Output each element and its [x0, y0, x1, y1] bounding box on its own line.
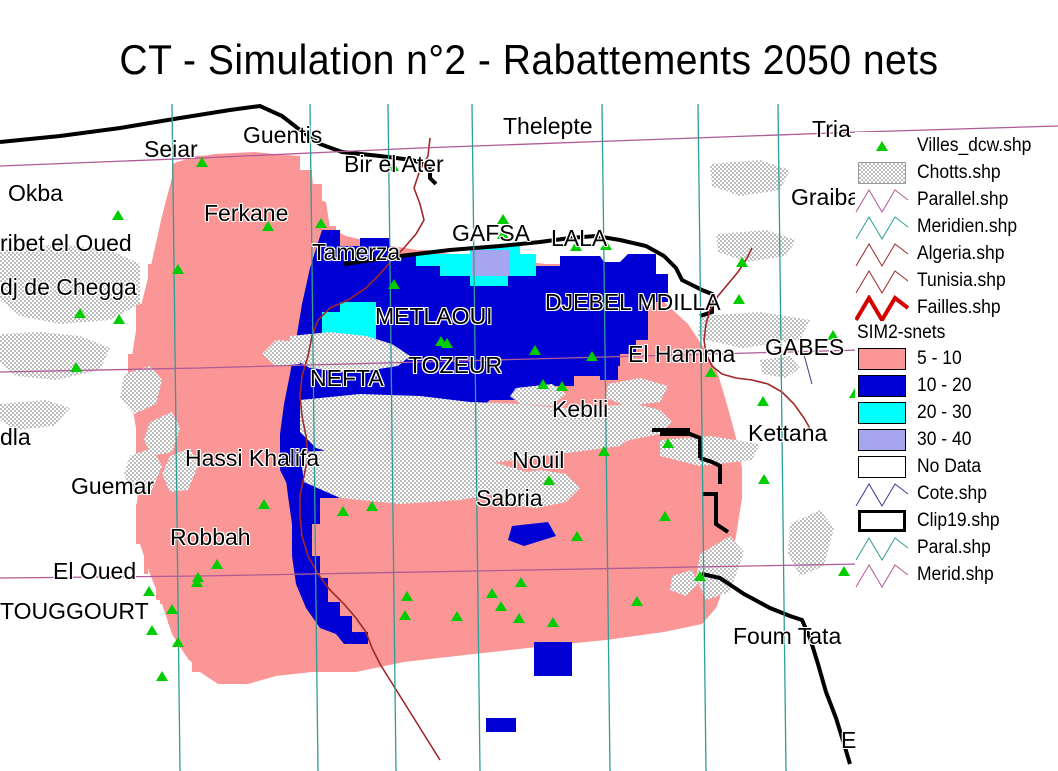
- map-label-guentis: Guentis: [243, 124, 322, 147]
- legend-label: Chotts.shp: [917, 162, 1001, 184]
- city-triangle-icon: [529, 345, 541, 355]
- legend-label: Merid.shp: [917, 564, 994, 586]
- map-label-ferkane: Ferkane: [204, 202, 288, 225]
- page-title: CT - Simulation n°2 - Rabattements 2050 …: [37, 36, 1021, 92]
- legend-classes: 5 - 1010 - 2020 - 3030 - 40No Data: [855, 345, 1058, 481]
- city-triangle-icon: [757, 396, 769, 406]
- map-label-guemar: Guemar: [71, 475, 154, 498]
- line-sample-icon: [855, 241, 909, 267]
- legend-label: 10 - 20: [917, 375, 971, 397]
- color-swatch-icon: [855, 373, 909, 399]
- legend-row-clip19-shp[interactable]: Clip19.shp: [855, 507, 1058, 535]
- legend-label: 30 - 40: [917, 429, 971, 451]
- city-triangle-icon: [156, 671, 168, 681]
- city-triangle-icon: [736, 257, 748, 267]
- legend-label: No Data: [917, 456, 981, 478]
- line-sample-icon: [855, 187, 909, 213]
- city-triangle-icon: [172, 264, 184, 274]
- line-sample-icon: [855, 295, 909, 321]
- legend-entries: Villes_dcw.shpChotts.shpParallel.shpMeri…: [855, 132, 1058, 322]
- city-triangle-icon: [694, 571, 706, 581]
- city-triangle-icon: [435, 336, 447, 346]
- map-label-e: E: [841, 729, 856, 752]
- legend-row-chotts-shp[interactable]: Chotts.shp: [855, 159, 1058, 187]
- map-label-ribet-el-oued: ribet el Oued: [0, 232, 132, 255]
- line-sample-icon: [855, 562, 909, 588]
- line-sample-icon: [855, 187, 909, 213]
- map-label-djebel-mdilla: DJEBEL MDILLA: [545, 291, 721, 314]
- map-label-el-hamma: El Hamma: [628, 343, 735, 366]
- line-sample-icon: [855, 214, 909, 240]
- legend-row-tunisia-shp[interactable]: Tunisia.shp: [855, 267, 1058, 295]
- map-label-robbah: Robbah: [170, 526, 251, 549]
- line-sample-icon: [855, 241, 909, 267]
- legend-label: Tunisia.shp: [917, 270, 1006, 292]
- city-triangle-icon: [659, 511, 671, 521]
- map-label-bir-el-ater: Bir el Ater: [344, 153, 444, 176]
- legend-label: Paral.shp: [917, 537, 991, 559]
- legend-label: 20 - 30: [917, 402, 971, 424]
- map-label-tamerza: Tamerza: [312, 241, 400, 264]
- map-label-metlaoui: METLAOUI: [375, 305, 493, 328]
- legend-label: Failles.shp: [917, 297, 1001, 319]
- legend-row-parallel-shp[interactable]: Parallel.shp: [855, 186, 1058, 214]
- city-triangle-icon: [211, 559, 223, 569]
- legend-row-merid-shp[interactable]: Merid.shp: [855, 561, 1058, 589]
- city-triangle-icon: [315, 218, 327, 228]
- city-triangle-icon: [70, 362, 82, 372]
- legend-row-failles-shp[interactable]: Failles.shp: [855, 294, 1058, 322]
- legend-row-cote-shp[interactable]: Cote.shp: [855, 480, 1058, 508]
- legend-label: Cote.shp: [917, 483, 987, 505]
- city-triangle-icon: [547, 617, 559, 627]
- city-triangle-icon: [758, 474, 770, 484]
- class-swatch-icon: [858, 429, 906, 451]
- green-triangle-icon: [876, 141, 888, 151]
- class-swatch-icon: [858, 402, 906, 424]
- map-label-kettana: Kettana: [748, 422, 827, 445]
- city-triangle-icon: [586, 351, 598, 361]
- map-label-el-oued: El Oued: [53, 560, 136, 583]
- city-triangle-icon: [556, 381, 568, 391]
- line-sample-icon: [855, 562, 909, 588]
- city-triangle-icon: [543, 475, 555, 485]
- map-label-foum-tata: Foum Tata: [733, 625, 841, 648]
- legend-label: Villes_dcw.shp: [917, 135, 1031, 157]
- clip-box-icon: [858, 510, 906, 532]
- map-label-gafsa: GAFSA: [452, 222, 530, 245]
- legend-row-algeria-shp[interactable]: Algeria.shp: [855, 240, 1058, 268]
- city-triangle-icon: [112, 210, 124, 220]
- map-label-dj-de-chegga: dj de Chegga: [0, 276, 137, 299]
- line-sample-icon: [855, 481, 909, 507]
- city-triangle-icon: [74, 308, 86, 318]
- city-triangle-icon: [631, 596, 643, 606]
- city-triangle-icon: [537, 379, 549, 389]
- map-label-touggourt: TOUGGOURT: [0, 600, 149, 623]
- legend-row-30-40[interactable]: 30 - 40: [855, 426, 1058, 454]
- map-label-hassi-khalifa: Hassi Khalifa: [185, 447, 319, 470]
- line-sample-icon: [855, 481, 909, 507]
- legend-group-title: SIM2-snets: [857, 322, 1042, 344]
- city-triangle-icon: [571, 531, 583, 541]
- city-triangle-icon: [495, 601, 507, 611]
- line-sample-icon: [855, 535, 909, 561]
- thick-box-icon: [855, 508, 909, 534]
- legend-row-no-data[interactable]: No Data: [855, 453, 1058, 481]
- city-triangle-icon: [486, 588, 498, 598]
- map-application: CT - Simulation n°2 - Rabattements 2050 …: [0, 0, 1058, 771]
- color-swatch-icon: [855, 400, 909, 426]
- city-triangle-icon: [113, 314, 125, 324]
- city-triangle-icon: [388, 279, 400, 289]
- line-sample-icon: [855, 268, 909, 294]
- line-sample-icon: [855, 535, 909, 561]
- map-label-tozeur: TOZEUR: [408, 354, 502, 377]
- map-label-okba: Okba: [8, 182, 63, 205]
- legend-row-10-20[interactable]: 10 - 20: [855, 372, 1058, 400]
- map-label-nefta: NEFTA: [310, 367, 384, 390]
- legend-label: 5 - 10: [917, 348, 962, 370]
- legend-label: Parallel.shp: [917, 189, 1008, 211]
- map-label-kebili: Kebili: [552, 398, 608, 421]
- city-triangle-icon: [513, 613, 525, 623]
- legend-row-villes-dcw-shp[interactable]: Villes_dcw.shp: [855, 132, 1058, 160]
- map-label-lala: LALA: [551, 227, 607, 250]
- city-triangle-icon: [143, 586, 155, 596]
- city-triangle-icon: [733, 294, 745, 304]
- map-label-sabria: Sabria: [476, 487, 542, 510]
- class-swatch-icon: [858, 456, 906, 478]
- map-label-thelepte: Thelepte: [503, 115, 593, 138]
- city-triangle-icon: [337, 506, 349, 516]
- map-legend[interactable]: Villes_dcw.shpChotts.shpParallel.shpMeri…: [855, 132, 1058, 602]
- color-swatch-icon: [855, 346, 909, 372]
- class-swatch-icon: [858, 348, 906, 370]
- city-triangle-icon: [662, 438, 674, 448]
- city-triangle-icon: [399, 610, 411, 620]
- class-swatch-icon: [858, 375, 906, 397]
- legend-label: Clip19.shp: [917, 510, 1000, 532]
- map-label-nouil: Nouil: [512, 449, 564, 472]
- city-triangle-icon: [705, 367, 717, 377]
- dotted-fill-icon: [855, 160, 909, 186]
- city-triangle-icon: [166, 604, 178, 614]
- line-sample-icon: [855, 268, 909, 294]
- color-swatch-icon: [855, 454, 909, 480]
- city-triangle-icon: [366, 501, 378, 511]
- city-triangle-icon: [598, 446, 610, 456]
- city-triangle-icon: [451, 611, 463, 621]
- line-sample-icon: [855, 214, 909, 240]
- line-sample-icon: [855, 295, 909, 321]
- map-label-dla: dla: [0, 426, 31, 449]
- city-triangle-icon: [258, 499, 270, 509]
- city-triangle-icon: [515, 577, 527, 587]
- city-triangle-icon: [146, 625, 158, 635]
- legend-entries-after: Cote.shpClip19.shpParal.shpMerid.shp: [855, 480, 1058, 589]
- city-triangle-icon: [401, 591, 413, 601]
- legend-label: Algeria.shp: [917, 243, 1004, 265]
- legend-row-meridien-shp[interactable]: Meridien.shp: [855, 213, 1058, 241]
- legend-row-paral-shp[interactable]: Paral.shp: [855, 534, 1058, 562]
- layer-class-30-40: [472, 250, 510, 276]
- city-triangle-icon: [838, 566, 850, 576]
- map-label-tria: Tria: [812, 118, 851, 141]
- map-label-graiba: Graiba: [791, 186, 860, 209]
- triangle-point-icon: [855, 133, 909, 159]
- legend-label: Meridien.shp: [917, 216, 1017, 238]
- map-label-gabes: GABES: [765, 336, 844, 359]
- city-triangle-icon: [172, 637, 184, 647]
- legend-row-5-10[interactable]: 5 - 10: [855, 345, 1058, 373]
- map-label-seiar: Seiar: [144, 138, 198, 161]
- city-triangle-icon: [191, 577, 203, 587]
- chotts-swatch-icon: [858, 162, 906, 184]
- color-swatch-icon: [855, 427, 909, 453]
- legend-row-20-30[interactable]: 20 - 30: [855, 399, 1058, 427]
